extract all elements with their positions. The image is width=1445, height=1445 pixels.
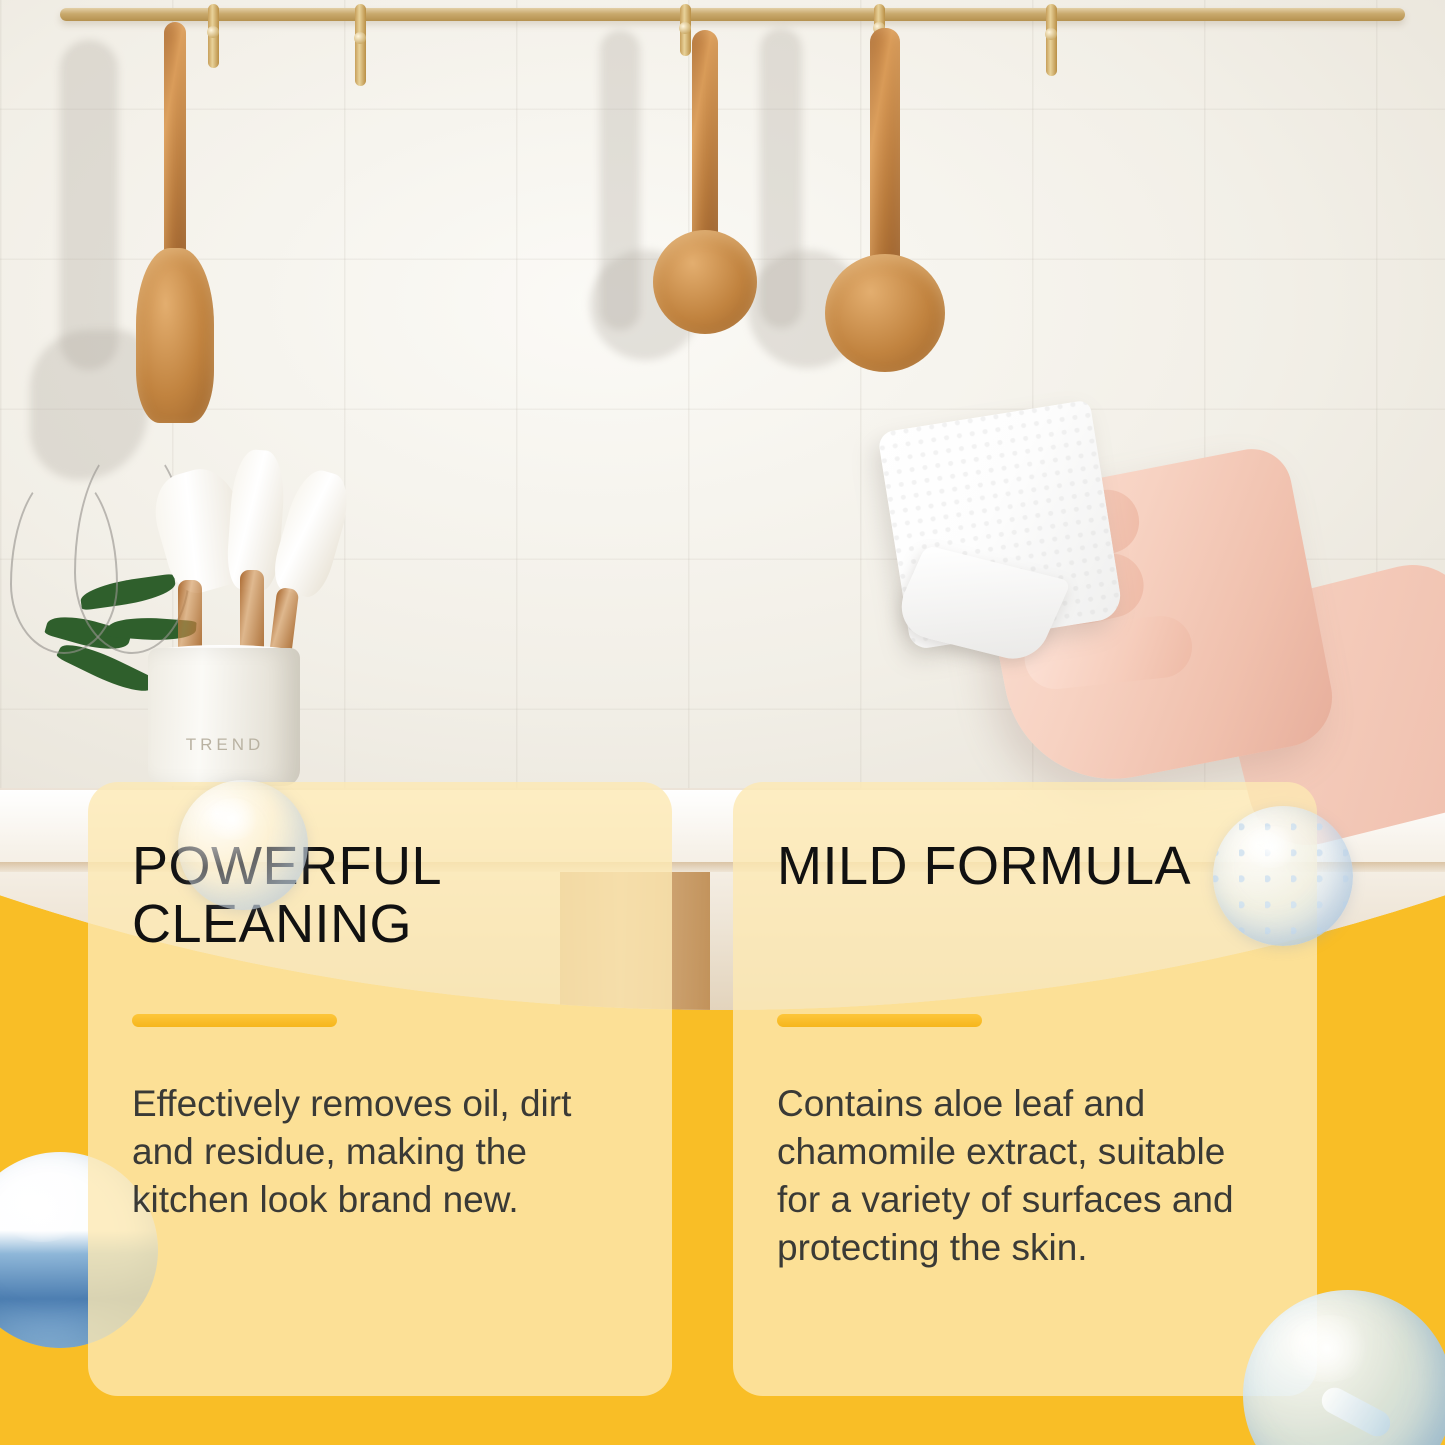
- accent-bar: [777, 1014, 982, 1027]
- card-body: Contains aloe leaf and chamomile extract…: [777, 1080, 1273, 1272]
- brass-hanging-rail: [60, 8, 1405, 21]
- card-body: Effectively removes oil, dirt and residu…: [132, 1080, 628, 1224]
- feature-card-powerful-cleaning[interactable]: POWERFUL CLEANING Effectively removes oi…: [88, 782, 672, 1396]
- bubble-top-left-icon: [178, 780, 308, 910]
- utensil-crock: [148, 648, 300, 786]
- accent-bar: [132, 1014, 337, 1027]
- wooden-spatula: [120, 22, 230, 422]
- rail-hook-icon: [1046, 4, 1057, 76]
- wooden-ladle: [820, 28, 950, 398]
- bubble-top-right-icon: [1213, 806, 1353, 946]
- wooden-ladle: [650, 30, 760, 370]
- crock-brand-label: TREND: [150, 735, 300, 755]
- utensil-shadow: [60, 40, 118, 370]
- product-feature-poster: TREND POWERFUL CLEANING Effectively remo…: [0, 0, 1445, 1445]
- rail-hook-icon: [355, 4, 366, 86]
